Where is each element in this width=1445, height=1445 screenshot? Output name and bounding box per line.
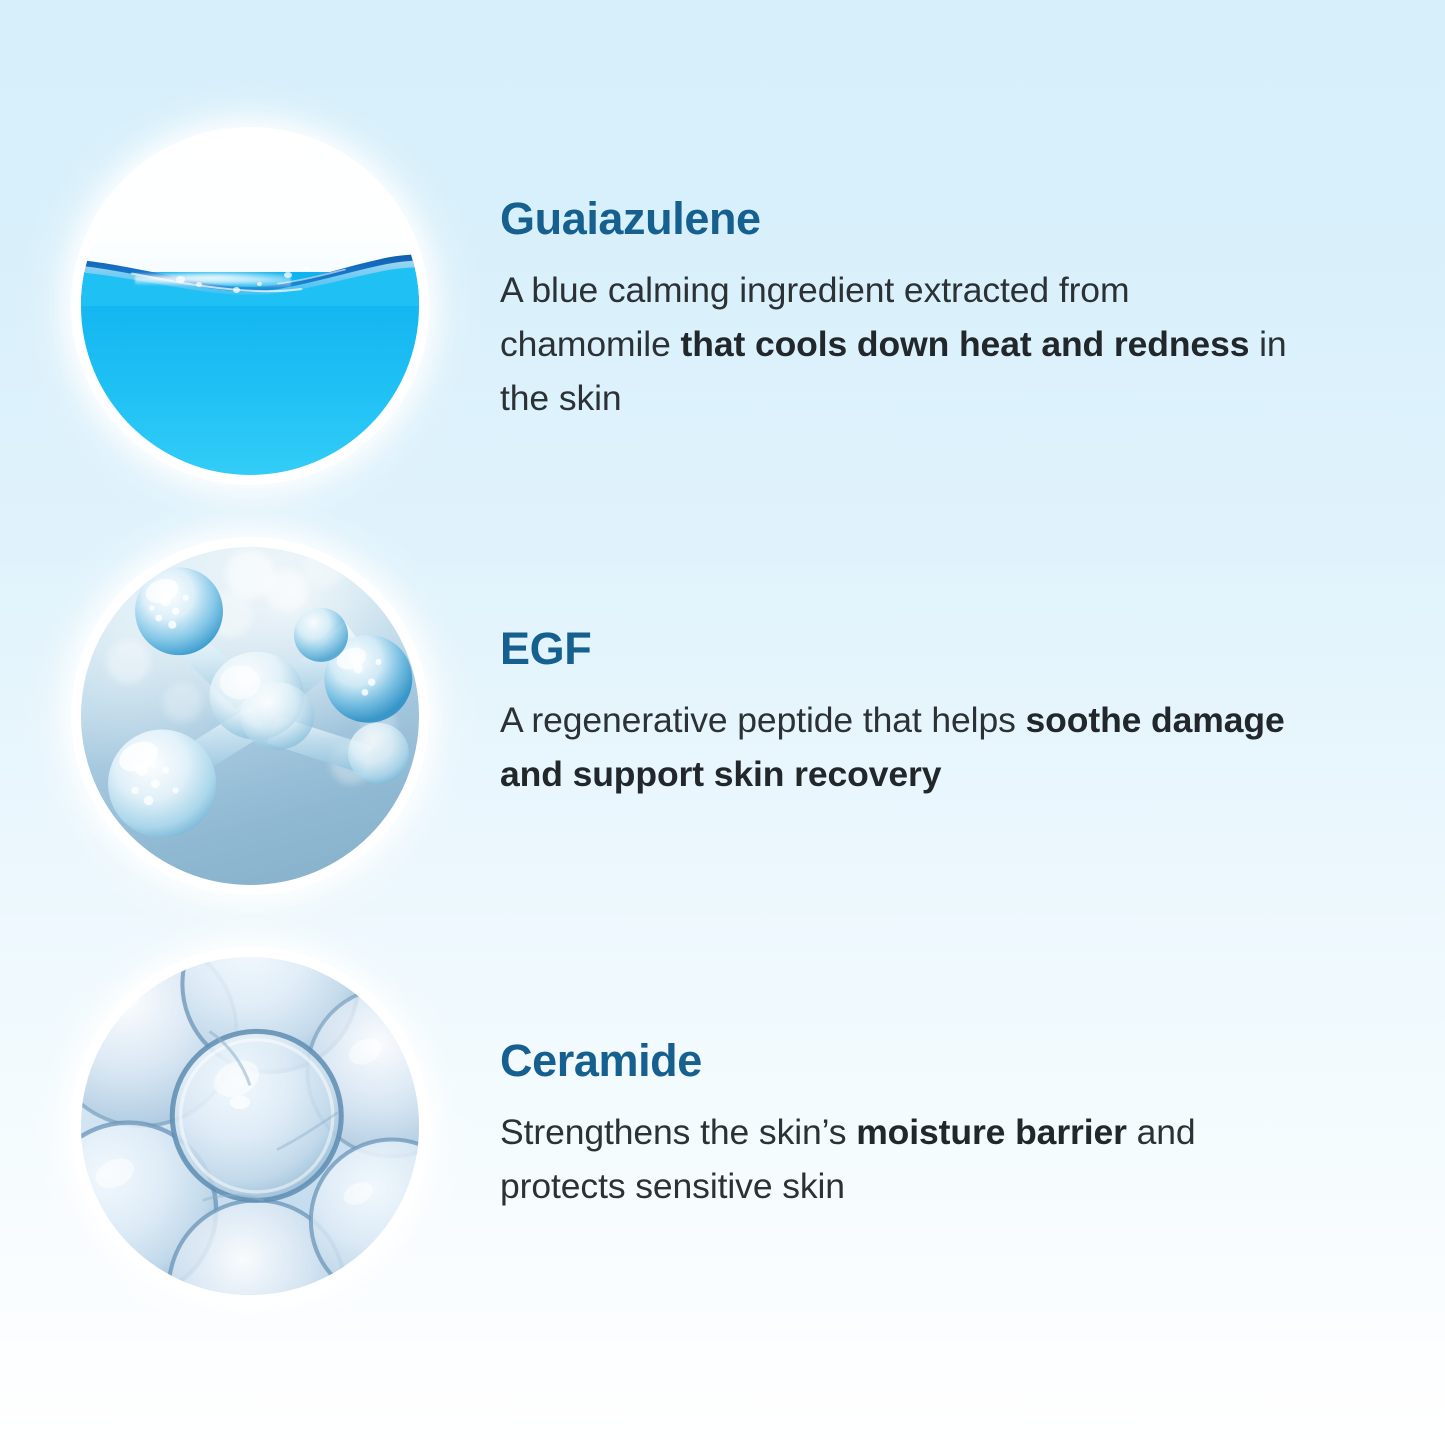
water-bubble-icon: [176, 276, 185, 283]
ingredient-description: Strengthens the skin’s moisture barrier …: [500, 1106, 1300, 1214]
ingredient-row-guaiazulene: Guaiazulene A blue calming ingredient ex…: [0, 137, 1445, 475]
ceramide-bubbles-icon: [81, 957, 419, 1295]
text-column: Ceramide Strengthens the skin’s moisture…: [500, 957, 1445, 1214]
ingredient-title: EGF: [500, 625, 1385, 672]
water-bubbles-photo: [81, 957, 419, 1295]
media-column: [0, 547, 500, 885]
media-column: [0, 137, 500, 475]
description-emphasis: that cools down heat and redness: [681, 324, 1250, 364]
ingredient-row-egf: EGF A regenerative peptide that helps so…: [0, 547, 1445, 885]
description-text: A regenerative peptide that helps: [500, 700, 1026, 740]
ingredient-title: Guaiazulene: [500, 195, 1385, 242]
ingredient-row-ceramide: Ceramide Strengthens the skin’s moisture…: [0, 957, 1445, 1295]
text-column: EGF A regenerative peptide that helps so…: [500, 547, 1445, 802]
molecule-structure-photo: [81, 547, 419, 885]
water-surface-photo: [81, 137, 419, 475]
text-column: Guaiazulene A blue calming ingredient ex…: [500, 137, 1445, 426]
ingredient-title: Ceramide: [500, 1037, 1385, 1084]
water-foam-icon: [135, 271, 290, 288]
water-bubble-icon: [284, 272, 292, 278]
media-column: [0, 957, 500, 1295]
molecule-model-icon: [81, 547, 419, 885]
ingredient-description: A blue calming ingredient extracted from…: [500, 264, 1300, 426]
ingredient-description: A regenerative peptide that helps soothe…: [500, 694, 1300, 802]
description-emphasis: moisture barrier: [856, 1112, 1127, 1152]
description-text: Strengthens the skin’s: [500, 1112, 856, 1152]
ingredient-infographic: Guaiazulene A blue calming ingredient ex…: [0, 0, 1445, 1445]
